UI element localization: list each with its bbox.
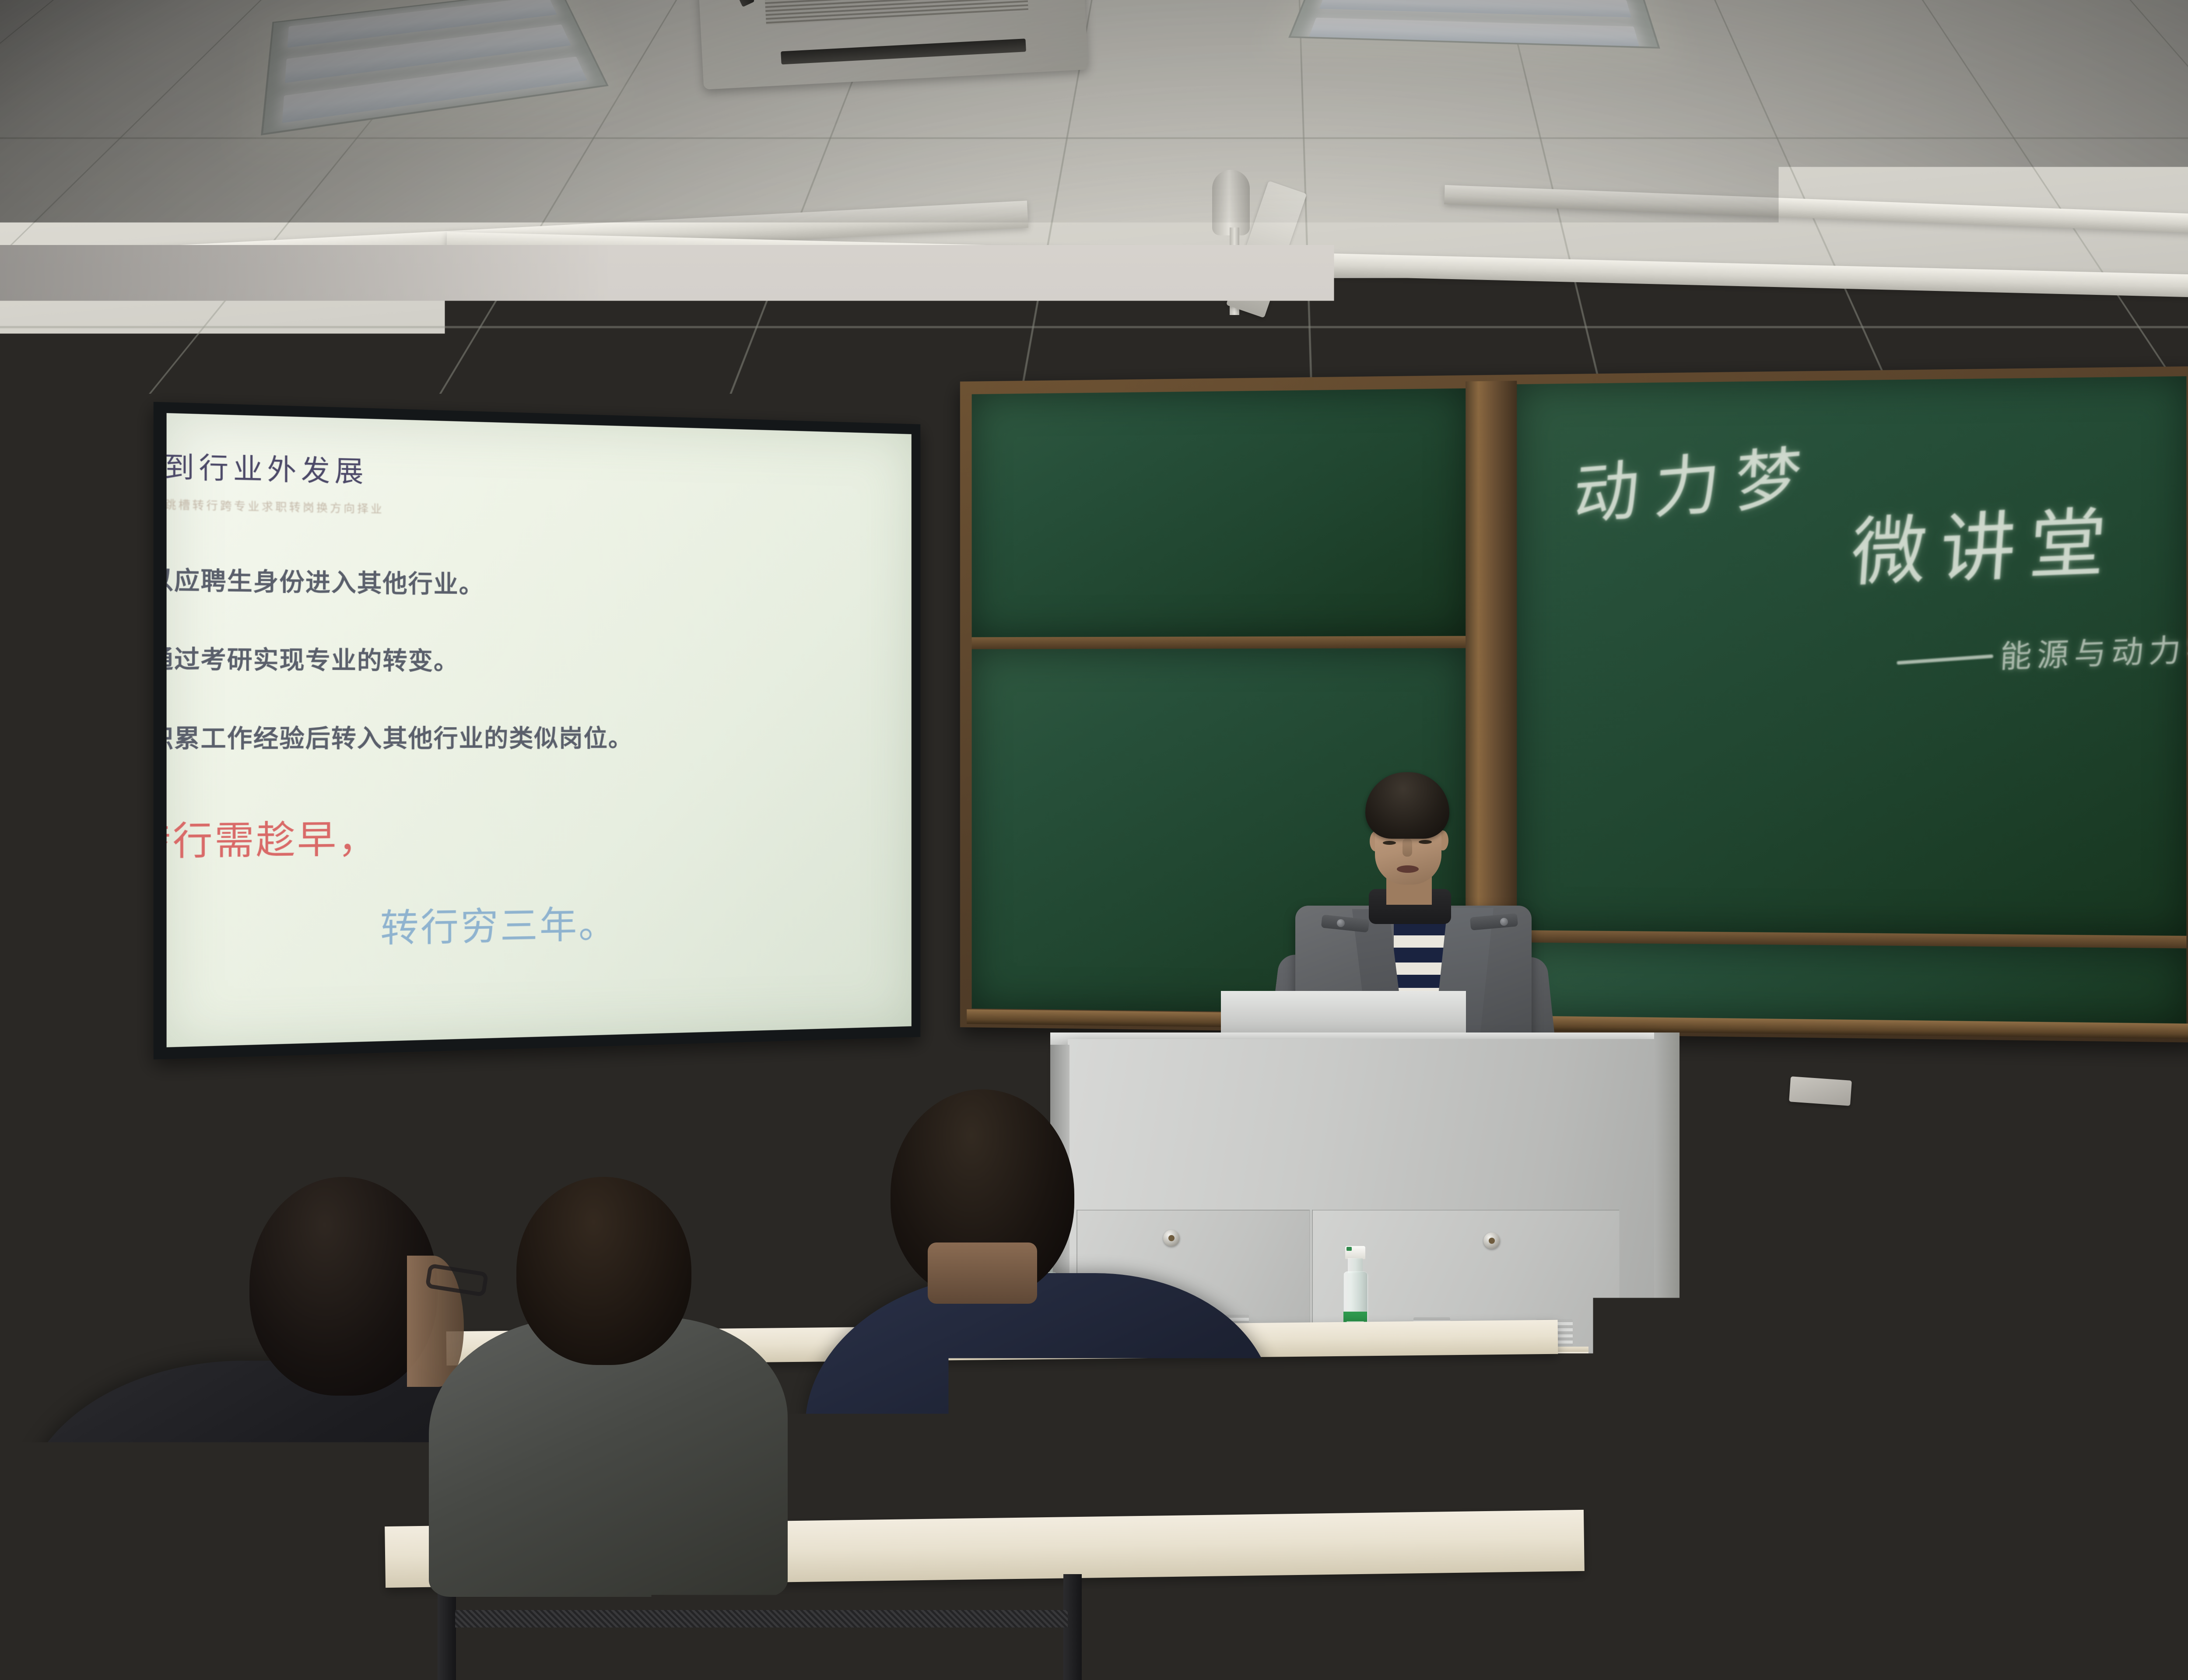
projected-slide: 到行业外发展 跳槽转行跨专业求职转岗换方向择业 以应聘生身份进入其他行业。 通过… bbox=[167, 413, 912, 1047]
podium-right-side bbox=[1654, 1032, 1680, 1485]
slide-subheading: 跳槽转行跨专业求职转岗换方向择业 bbox=[167, 496, 384, 516]
wall-mounted-speaker bbox=[1789, 1076, 1852, 1106]
student-gray-jacket-head bbox=[516, 1177, 691, 1365]
slide-heading: 到行业外发展 bbox=[167, 444, 368, 490]
slide-bullet-3: 积累工作经验后转入其他行业的类似岗位。 bbox=[167, 718, 633, 754]
student-navy-coat-neck bbox=[928, 1242, 1037, 1304]
slide-emphasis-blue: 转行穷三年。 bbox=[380, 894, 617, 953]
smartphone-on-desk[interactable] bbox=[1476, 1354, 1524, 1378]
window-curtain bbox=[0, 332, 144, 1181]
blackboard-panel-right-lower bbox=[1517, 942, 2186, 1027]
slide-emphasis-red: 转行需趁早， bbox=[167, 808, 379, 866]
blackboard-divider-left bbox=[972, 636, 1466, 649]
bottle-cap bbox=[1345, 1246, 1365, 1259]
speaker-nose bbox=[1403, 838, 1412, 857]
student-front-center-collar bbox=[455, 1619, 849, 1680]
blackboard-panel-left-upper bbox=[972, 388, 1466, 638]
speaker-mouth bbox=[1397, 865, 1419, 873]
chalk-dash bbox=[1897, 654, 1993, 665]
chalk-title-line2: 微讲堂 bbox=[1848, 482, 2124, 601]
classroom-photo: 到行业外发展 跳槽转行跨专业求职转岗换方向择业 以应聘生身份进入其他行业。 通过… bbox=[0, 0, 2188, 1680]
podium-lock-right[interactable] bbox=[1483, 1232, 1500, 1249]
slide-bullet-1: 以应聘生身份进入其他行业。 bbox=[167, 560, 484, 600]
ceiling-fan-mount bbox=[1212, 170, 1250, 235]
chalk-title-line1: 动力梦 bbox=[1571, 423, 1820, 538]
podium-lock-left[interactable] bbox=[1163, 1230, 1180, 1246]
projection-screen[interactable]: 到行业外发展 跳槽转行跨专业求职转岗换方向择业 以应聘生身份进入其他行业。 通过… bbox=[154, 402, 921, 1059]
speaker-epaulette-button-right bbox=[1500, 918, 1508, 926]
bottle-neck bbox=[1348, 1258, 1363, 1273]
speaker-eye-left bbox=[1383, 841, 1396, 845]
desk-leg-right-near bbox=[1982, 1627, 2000, 1680]
chalk-attribution: 能源与动力学院 bbox=[1999, 622, 2188, 677]
speaker-epaulette-button-left bbox=[1337, 919, 1345, 927]
projector-housing-box bbox=[901, 360, 950, 392]
student-navy-coat-body bbox=[805, 1273, 1273, 1623]
slide-bullet-2: 通过考研实现专业的转变。 bbox=[167, 639, 459, 677]
speaker-eye-right bbox=[1419, 840, 1432, 844]
blackboard[interactable]: 动力梦 微讲堂 能源与动力学院 bbox=[960, 366, 2188, 1043]
blackboard-panel-right-main: 动力梦 微讲堂 能源与动力学院 bbox=[1517, 376, 2186, 936]
